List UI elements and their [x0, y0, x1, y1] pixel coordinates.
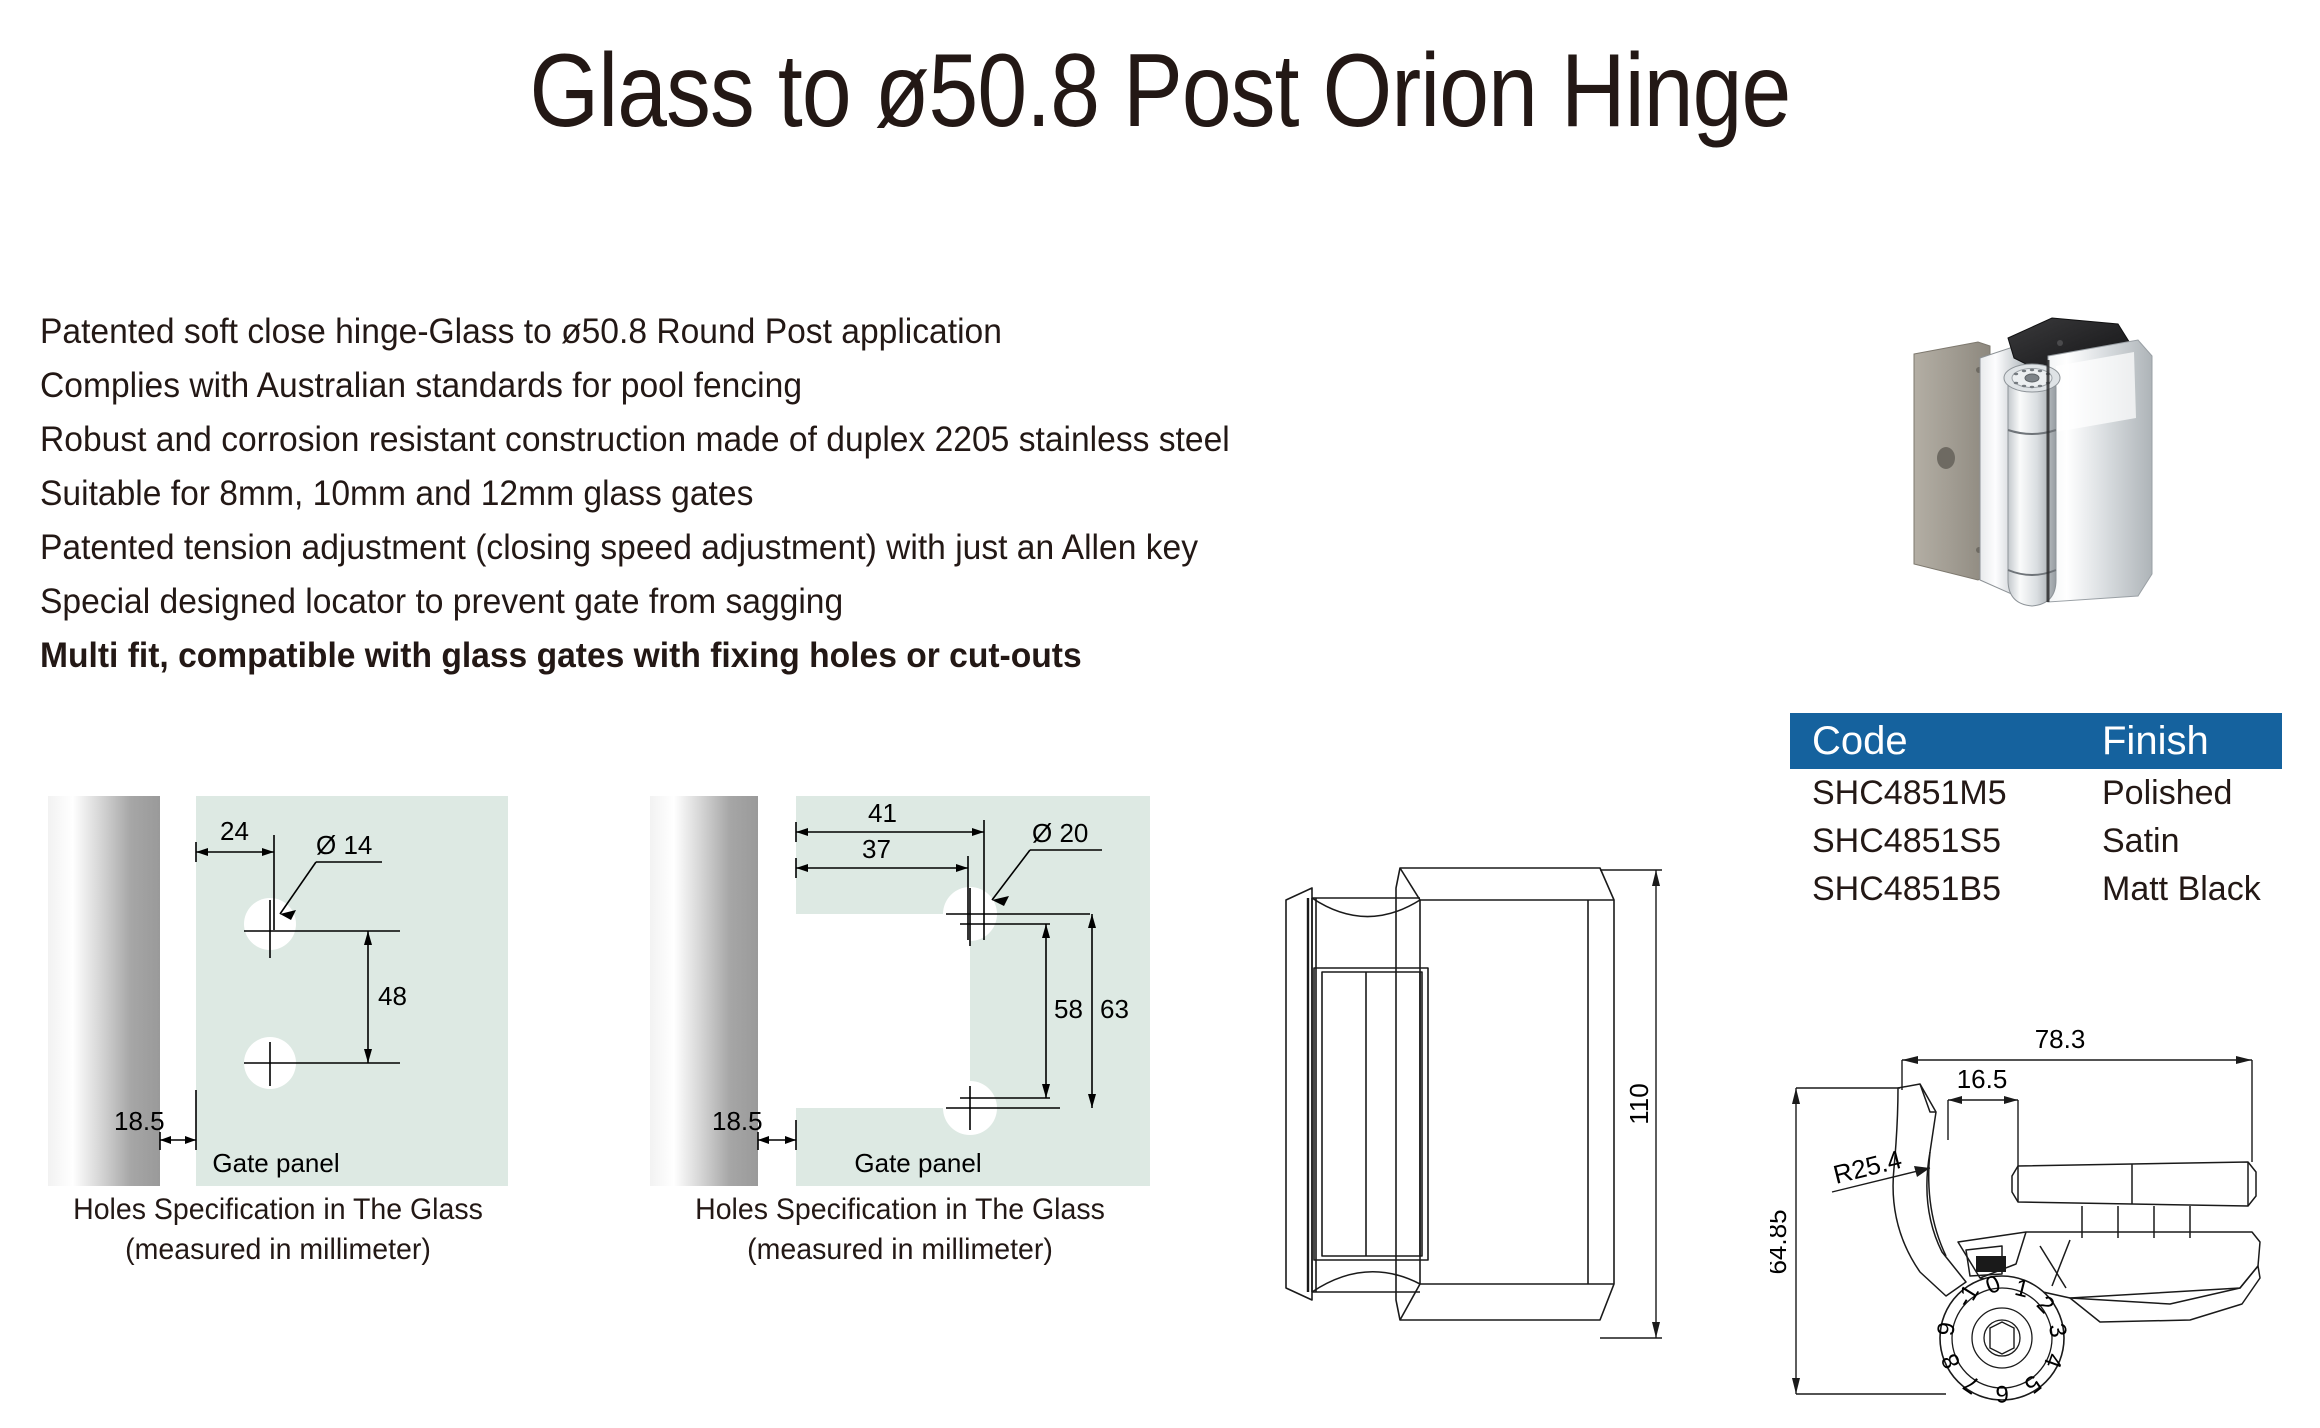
barrel-curve-top [1312, 898, 1420, 917]
dimension-label-48: 48 [378, 981, 407, 1011]
caption-line-1: Holes Specification in The Glass [663, 1190, 1138, 1230]
table-row: SHC4851S5 Satin [1790, 817, 2282, 865]
body-window-fill [1976, 1256, 2006, 1272]
body-highlight [2056, 352, 2136, 432]
hinge-section-drawing: -1 0 1 2 3 4 5 6 7 8 9 78.3 [1770, 1020, 2310, 1420]
feature-list: Patented soft close hinge-Glass to ø50.8… [40, 305, 1680, 683]
table-row: SHC4851M5 Polished [1790, 769, 2282, 817]
gate-panel-label: Gate panel [854, 1148, 981, 1178]
dimension-18-5 [160, 1090, 196, 1150]
code-finish-table: Code Finish SHC4851M5 Polished SHC4851S5… [1790, 713, 2282, 913]
cell-finish: Polished [2102, 774, 2232, 813]
caption-line-2: (measured in millimeter) [60, 1230, 497, 1270]
feature-item: Patented soft close hinge-Glass to ø50.8… [40, 305, 1614, 359]
feature-item: Robust and corrosion resistant construct… [40, 413, 1614, 467]
trailing-arm [2070, 1266, 2260, 1322]
caption-line-1: Holes Specification in The Glass [60, 1190, 497, 1230]
plate-fixing-hole [1937, 447, 1955, 469]
dimension-label-18-5: 18.5 [712, 1106, 763, 1136]
glass-clamp-plate [2012, 1162, 2256, 1206]
dimension-label-16-5: 16.5 [1957, 1064, 2008, 1094]
cell-code: SHC4851S5 [1812, 822, 2102, 861]
dimension-label-41: 41 [868, 798, 897, 828]
cap-screw [2057, 340, 2063, 346]
clamp-stem-right [2154, 1206, 2190, 1238]
dimension-78-3 [1902, 1056, 2252, 1162]
dimension-18-5 [758, 1120, 796, 1150]
dimension-label-37: 37 [862, 834, 891, 864]
dimension-label-24: 24 [220, 816, 249, 846]
holes-spec-caption: Holes Specification in The Glass (measur… [60, 1190, 497, 1270]
column-header-code: Code [1812, 719, 2102, 764]
column-header-finish: Finish [2102, 719, 2209, 764]
dial-number: 6 [1995, 1380, 2009, 1407]
gate-panel-label: Gate panel [212, 1148, 339, 1178]
table-header-row: Code Finish [1790, 713, 2282, 769]
dimension-label-dia14: Ø 14 [316, 830, 372, 860]
page-title: Glass to ø50.8 Post Orion Hinge [162, 36, 2157, 146]
housing-bottom-chamfer [1400, 1284, 1614, 1320]
cell-code: SHC4851M5 [1812, 774, 2102, 813]
allen-key-socket [2025, 374, 2039, 382]
dimension-label-78-3: 78.3 [2035, 1024, 2086, 1054]
barrel-curve-bottom [1312, 1272, 1420, 1292]
leaf-plate-inner [1322, 972, 1422, 1256]
cell-finish: Satin [2102, 822, 2180, 861]
hinge-elevation-drawing: 110 [1270, 860, 1690, 1380]
feature-item: Patented tension adjustment (closing spe… [40, 521, 1614, 575]
holes-spec-caption: Holes Specification in The Glass (measur… [663, 1190, 1138, 1270]
holes-spec-diagram-cut-outs: 41 37 Ø 20 58 [650, 790, 1150, 1186]
cell-code: SHC4851B5 [1812, 870, 2102, 909]
caption-line-2: (measured in millimeter) [663, 1230, 1138, 1270]
holes-spec-diagram-fixing-holes: 24 Ø 14 48 18.5 Gate panel Holes Specifi… [48, 790, 508, 1186]
dimension-label-18-5: 18.5 [114, 1106, 165, 1136]
dimension-16-5 [1948, 1096, 2018, 1166]
dimension-64-85 [1792, 1088, 1946, 1394]
product-photo [1880, 312, 2180, 662]
table-row: SHC4851B5 Matt Black [1790, 865, 2282, 913]
dimension-label-110: 110 [1624, 1083, 1654, 1124]
feature-item: Complies with Australian standards for p… [40, 359, 1614, 413]
housing-top-chamfer [1400, 868, 1614, 900]
clamp-stem-left [2082, 1206, 2118, 1238]
dimension-label-64-85: 64.85 [1770, 1209, 1792, 1274]
dimension-label-58: 58 [1054, 994, 1083, 1024]
feature-item-highlight: Multi fit, compatible with glass gates w… [40, 629, 1614, 683]
dimension-label-63: 63 [1100, 994, 1129, 1024]
dimension-label-dia20: Ø 20 [1032, 818, 1088, 848]
leaf-plate [1314, 968, 1428, 1260]
feature-item: Suitable for 8mm, 10mm and 12mm glass ga… [40, 467, 1614, 521]
cell-finish: Matt Black [2102, 870, 2261, 909]
feature-item: Special designed locator to prevent gate… [40, 575, 1614, 629]
